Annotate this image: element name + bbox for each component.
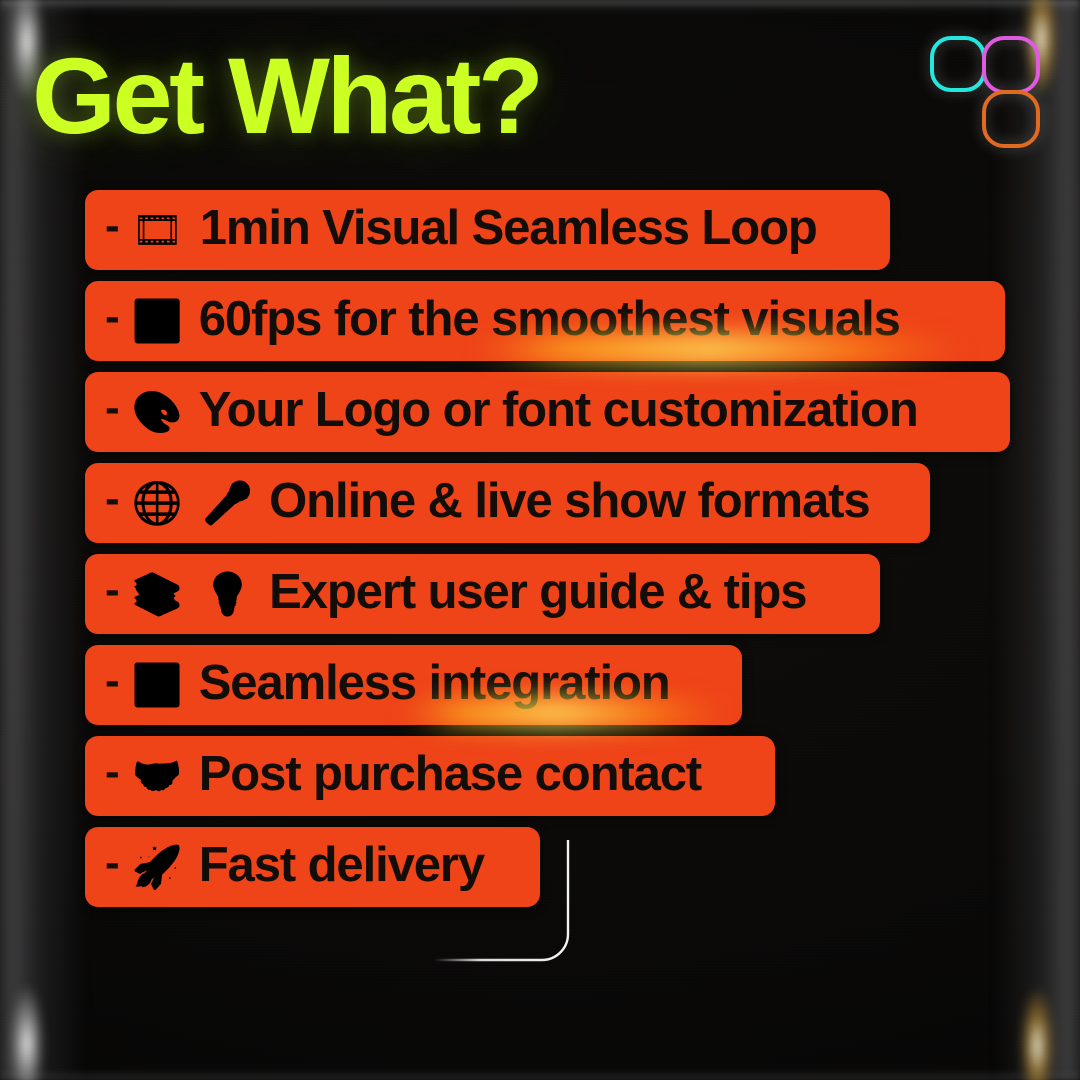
bullet-dash: - xyxy=(101,295,126,347)
feature-label: Your Logo or font customization xyxy=(199,386,918,439)
feature-bar[interactable]: -🚀Fast delivery xyxy=(85,827,540,907)
feature-bar[interactable]: -🔀Seamless integration xyxy=(85,645,742,725)
film-strip-icon: 🎞 xyxy=(126,210,200,251)
books-icon lightbulb-icon: 📚 💡 xyxy=(126,574,270,615)
feature-label: Expert user guide & tips xyxy=(269,568,806,621)
fast-forward-icon: ⏩ xyxy=(126,301,199,342)
logo-square-bottom-right xyxy=(984,92,1038,146)
rocket-icon: 🚀 xyxy=(126,847,199,888)
bullet-dash: - xyxy=(101,841,126,893)
shuffle-icon: 🔀 xyxy=(126,665,199,706)
feature-bar[interactable]: -🎞1min Visual Seamless Loop xyxy=(85,190,890,270)
bullet-dash: - xyxy=(101,477,126,529)
feature-label: 60fps for the smoothest visuals xyxy=(199,295,900,348)
feature-label: 1min Visual Seamless Loop xyxy=(200,204,817,257)
feature-bar[interactable]: -⏩60fps for the smoothest visuals xyxy=(85,281,1005,361)
bullet-dash: - xyxy=(101,204,126,256)
bullet-dash: - xyxy=(101,750,126,802)
handshake-icon: 🤝 xyxy=(126,756,199,797)
feature-bar[interactable]: -🤝Post purchase contact xyxy=(85,736,775,816)
feature-list: -🎞1min Visual Seamless Loop-⏩60fps for t… xyxy=(85,190,1010,907)
feature-bar[interactable]: -🎨Your Logo or font customization xyxy=(85,372,1010,452)
globe-icon microphone-icon: 🌐 🎤 xyxy=(126,483,270,524)
feature-label: Fast delivery xyxy=(199,841,484,894)
feature-bar[interactable]: -📚 💡Expert user guide & tips xyxy=(85,554,880,634)
background-bottom-band xyxy=(0,1070,1080,1080)
feature-label: Seamless integration xyxy=(199,659,670,712)
page-title: Get What? xyxy=(32,42,540,150)
logo-square-top-right xyxy=(984,38,1038,92)
background-top-band xyxy=(0,0,1080,14)
palette-icon: 🎨 xyxy=(126,392,199,433)
feature-label: Post purchase contact xyxy=(199,750,701,803)
logo-square-top-left xyxy=(932,38,984,90)
bullet-dash: - xyxy=(101,659,126,711)
feature-label: Online & live show formats xyxy=(269,477,869,530)
bullet-dash: - xyxy=(101,568,126,620)
feature-bar[interactable]: -🌐 🎤Online & live show formats xyxy=(85,463,930,543)
three-rounded-squares-logo[interactable] xyxy=(928,34,1042,152)
bullet-dash: - xyxy=(101,386,126,438)
poster-canvas: Get What? -🎞1min Visual Seamless Loop-⏩6… xyxy=(0,0,1080,1080)
